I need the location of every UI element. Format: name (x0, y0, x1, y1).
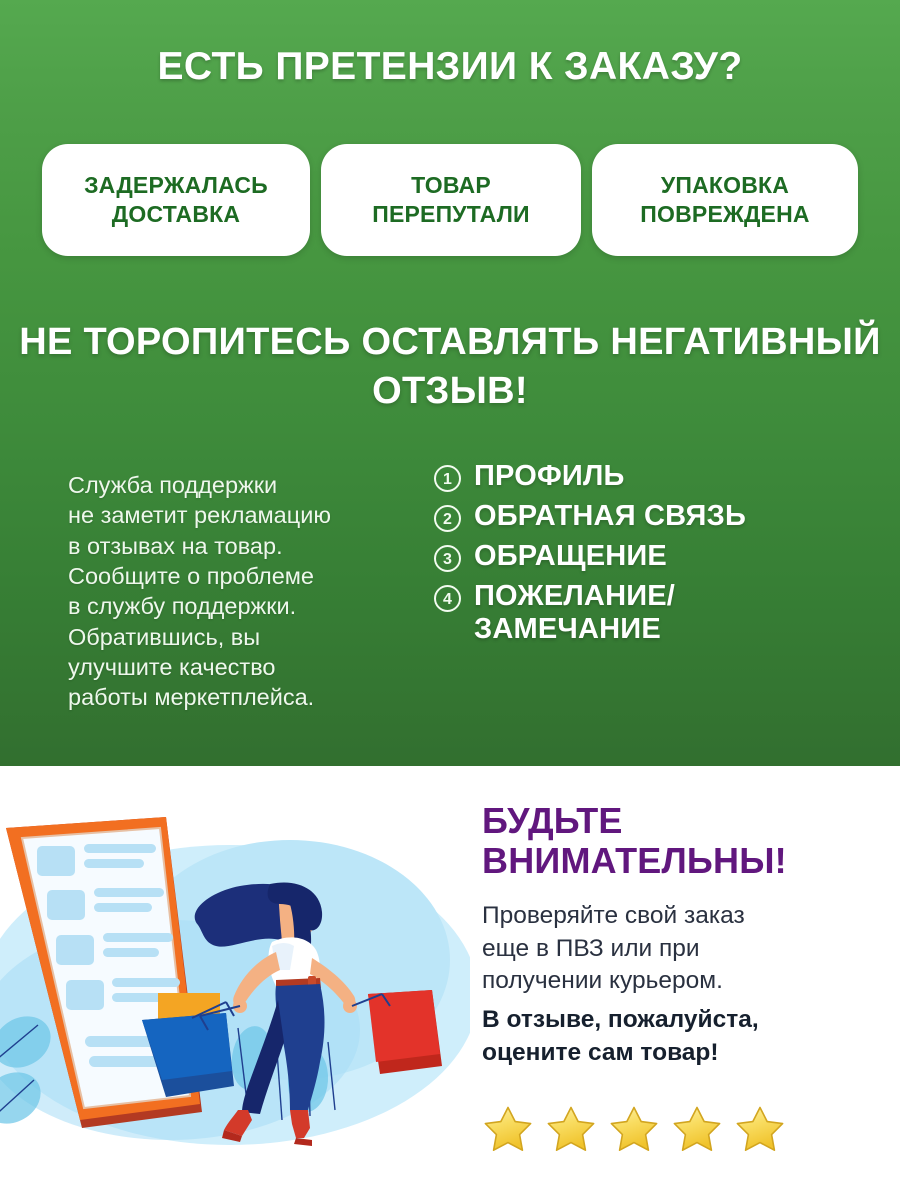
star-icon (671, 1103, 723, 1155)
star-icon (734, 1103, 786, 1155)
attention-body-emphasis-text: В отзыве, пожалуйста, оцените сам товар! (482, 1004, 882, 1069)
green-body-columns: Служба поддержки не заметит рекламацию в… (0, 460, 900, 720)
step-label-request: ОБРАЩЕНИЕ (474, 540, 667, 573)
step-label-wish-remark: ПОЖЕЛАНИЕ/ ЗАМЕЧАНИЕ (474, 580, 675, 646)
support-paragraph: Служба поддержки не заметит рекламацию в… (68, 470, 408, 713)
step-number-circle-icon: 4 (434, 585, 461, 612)
steps-list: 1 ПРОФИЛЬ 2 ОБРАТНАЯ СВЯЗЬ 3 ОБРАЩЕНИЕ 4… (434, 460, 884, 653)
list-item: 1 ПРОФИЛЬ (434, 460, 884, 493)
step-number-circle-icon: 2 (434, 505, 461, 532)
step-label-feedback: ОБРАТНАЯ СВЯЗЬ (474, 500, 746, 533)
green-section: ЕСТЬ ПРЕТЕНЗИИ К ЗАКАЗУ? ЗАДЕРЖАЛАСЬ ДОС… (0, 0, 900, 766)
attention-body-text: Проверяйте свой заказ еще в ПВЗ или при … (482, 900, 882, 998)
list-item: 2 ОБРАТНАЯ СВЯЗЬ (434, 500, 884, 533)
reason-card-wrong-item[interactable]: ТОВАР ПЕРЕПУТАЛИ (321, 144, 581, 256)
list-item: 3 ОБРАЩЕНИЕ (434, 540, 884, 573)
rating-stars (482, 1103, 786, 1155)
reason-cards-row: ЗАДЕРЖАЛАСЬ ДОСТАВКА ТОВАР ПЕРЕПУТАЛИ УП… (42, 144, 858, 256)
step-number-circle-icon: 3 (434, 545, 461, 572)
woman-with-shopping-bags-and-phone-illustration (0, 780, 470, 1180)
attention-title: БУДЬТЕ ВНИМАТЕЛЬНЫ! (482, 801, 882, 882)
reason-card-delayed-delivery[interactable]: ЗАДЕРЖАЛАСЬ ДОСТАВКА (42, 144, 310, 256)
star-icon (608, 1103, 660, 1155)
star-icon (545, 1103, 597, 1155)
reason-card-damaged-packaging[interactable]: УПАКОВКА ПОВРЕЖДЕНА (592, 144, 858, 256)
star-icon (482, 1103, 534, 1155)
step-label-profile: ПРОФИЛЬ (474, 460, 625, 493)
step-number-circle-icon: 1 (434, 465, 461, 492)
main-headline: НЕ ТОРОПИТЕСЬ ОСТАВЛЯТЬ НЕГАТИВНЫЙ ОТЗЫВ… (0, 318, 900, 415)
promo-poster: ЕСТЬ ПРЕТЕНЗИИ К ЗАКАЗУ? ЗАДЕРЖАЛАСЬ ДОС… (0, 0, 900, 1200)
list-item: 4 ПОЖЕЛАНИЕ/ ЗАМЕЧАНИЕ (434, 580, 884, 646)
page-title: ЕСТЬ ПРЕТЕНЗИИ К ЗАКАЗУ? (0, 47, 900, 88)
